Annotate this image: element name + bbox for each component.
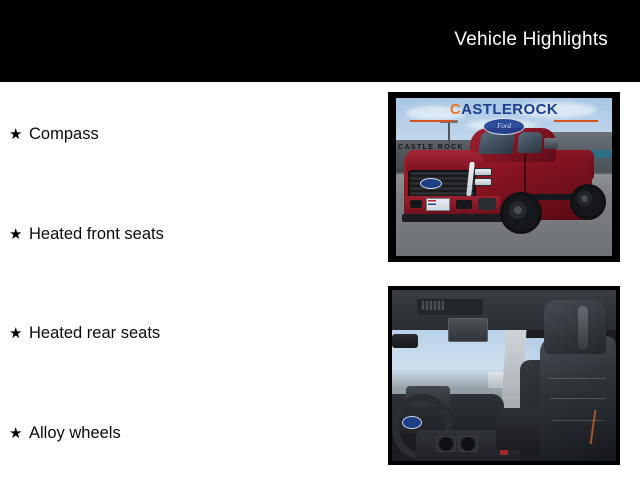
list-item: ★ Heated front seats	[9, 226, 164, 243]
star-bullet-icon: ★	[9, 227, 29, 242]
headlight	[474, 178, 492, 186]
exterior-photo[interactable]: CASTLE ROCK CASTLEROCK	[388, 92, 620, 262]
seat-seam	[548, 378, 606, 379]
feature-label: Alloy wheels	[29, 425, 121, 442]
fog-light	[456, 200, 472, 209]
feature-label: Heated front seats	[29, 226, 164, 243]
dealer-watermark: CASTLEROCK	[396, 102, 612, 117]
seat-seam	[552, 420, 604, 421]
cup-holder	[436, 436, 456, 452]
star-bullet-icon: ★	[9, 426, 29, 441]
front-rim	[509, 201, 527, 219]
ford-logo-icon: Ford	[483, 118, 525, 135]
ford-logo-text: Ford	[484, 122, 524, 130]
feature-label: Compass	[29, 126, 99, 143]
watermark-rule-left	[410, 120, 454, 122]
windshield-glass	[478, 132, 515, 154]
rear-rim	[577, 191, 592, 206]
bumper-vent	[478, 198, 496, 210]
list-item: ★ Compass	[9, 126, 99, 143]
overhead-vent-icon	[422, 301, 444, 310]
door-seam	[524, 154, 526, 196]
seat-seam	[550, 398, 606, 399]
watermark-rule-right	[554, 120, 598, 122]
exterior-photo-image: CASTLE ROCK CASTLEROCK	[396, 98, 612, 256]
vehicle-highlights-list: ★ Compass ★ Heated front seats ★ Heated …	[0, 82, 380, 480]
license-plate	[426, 198, 450, 211]
watermark-name: ASTLEROCK	[461, 101, 558, 118]
lower-air-dam	[402, 214, 506, 222]
page-title: Vehicle Highlights	[454, 29, 608, 51]
watermark-initial: C	[450, 101, 461, 118]
light-pole	[448, 120, 450, 144]
feature-label: Heated rear seats	[29, 325, 160, 342]
star-bullet-icon: ★	[9, 326, 29, 341]
rearview-display	[448, 318, 488, 342]
header-bar: Vehicle Highlights	[0, 0, 640, 82]
ford-oval-badge-icon	[420, 178, 442, 189]
side-mirror	[544, 138, 558, 149]
rearview-mirror	[392, 334, 418, 348]
list-item: ★ Heated rear seats	[9, 325, 160, 342]
interior-photo-image	[392, 290, 616, 461]
headlight	[474, 168, 492, 176]
star-bullet-icon: ★	[9, 127, 29, 142]
cup-holder	[458, 436, 478, 452]
side-window-glass	[517, 132, 542, 153]
plate-emblem-icon	[428, 200, 436, 205]
steering-wheel-badge-icon	[402, 416, 422, 429]
list-item: ★ Alloy wheels	[9, 425, 121, 442]
interior-photo[interactable]	[388, 286, 620, 465]
headrest	[544, 300, 606, 354]
fog-light	[410, 200, 422, 208]
headrest-accent	[578, 306, 588, 350]
